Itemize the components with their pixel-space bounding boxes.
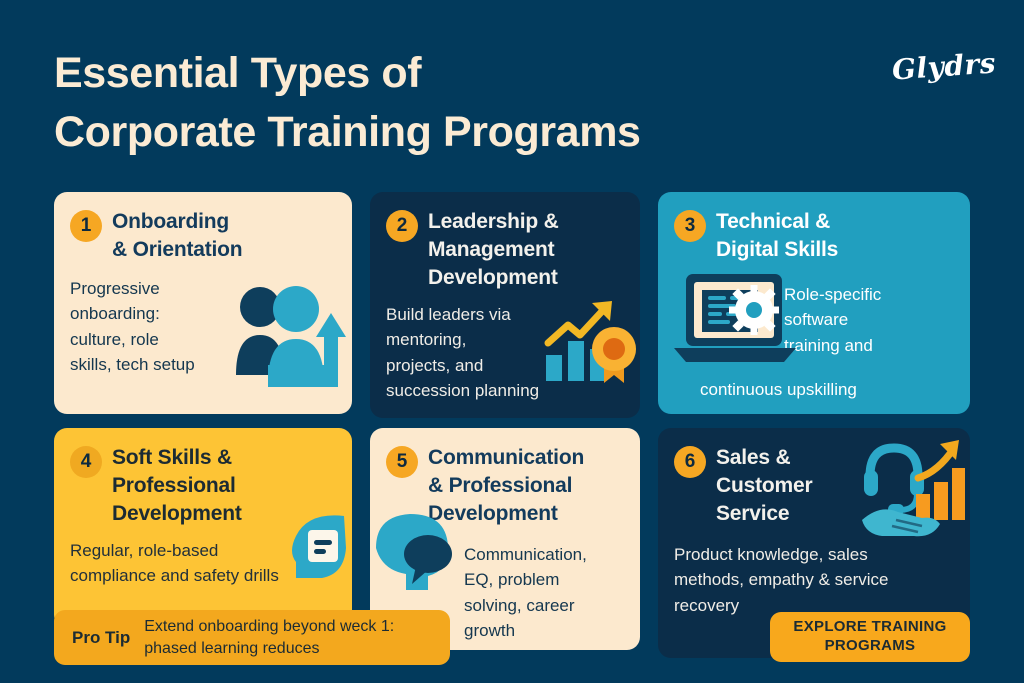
card-number-badge: 1	[70, 210, 102, 242]
pro-tip-banner: Pro Tip Extend onboarding beyond weck 1:…	[54, 610, 450, 665]
card-content: 4 Soft Skills & Professional Development…	[54, 428, 352, 628]
card-title: Onboarding & Orientation	[112, 208, 242, 264]
card-leadership-management[interactable]: 2 Leadership & Management Development Bu…	[370, 192, 640, 418]
pro-tip-label: Pro Tip	[72, 628, 130, 648]
card-number-badge: 4	[70, 446, 102, 478]
card-description: Progressive onboarding: culture, role sk…	[70, 276, 220, 378]
card-description-overflow: continuous upskilling	[700, 380, 857, 400]
card-header: 3 Technical & Digital Skills	[674, 208, 954, 264]
card-number-badge: 3	[674, 210, 706, 242]
head-speech-bubble-icon	[372, 508, 456, 603]
headset-handshake-chart-icon	[860, 438, 966, 547]
bar-chart-growth-award-icon	[542, 299, 638, 390]
pro-tip-text: Extend onboarding beyond weck 1: phased …	[144, 616, 436, 659]
card-header: 2 Leadership & Management Development	[386, 208, 624, 292]
card-content: 2 Leadership & Management Development Bu…	[370, 192, 640, 418]
card-description: Communication, EQ, problem solving, care…	[464, 542, 629, 644]
training-types-grid: 1 Onboarding & Orientation Progressive o…	[0, 0, 1024, 683]
card-technical-digital-skills[interactable]: 3 Technical & Digital Skills Role-specif…	[658, 192, 970, 414]
card-title: Technical & Digital Skills	[716, 208, 838, 264]
card-header: 1 Onboarding & Orientation	[70, 208, 336, 264]
card-title: Leadership & Management Development	[428, 208, 559, 292]
card-number-badge: 5	[386, 446, 418, 478]
card-title: Soft Skills & Professional Development	[112, 444, 242, 528]
card-content: 3 Technical & Digital Skills Role-specif…	[658, 192, 970, 414]
head-document-icon	[282, 510, 348, 591]
card-description: Product knowledge, sales methods, empath…	[674, 542, 959, 619]
card-soft-skills-professional[interactable]: 4 Soft Skills & Professional Development…	[54, 428, 352, 628]
card-description: Role-specific software training and	[784, 282, 954, 359]
card-number-badge: 6	[674, 446, 706, 478]
card-description: Build leaders via mentoring, projects, a…	[386, 302, 561, 404]
card-onboarding-orientation[interactable]: 1 Onboarding & Orientation Progressive o…	[54, 192, 352, 414]
laptop-gear-icon	[672, 270, 798, 373]
card-number-badge: 2	[386, 210, 418, 242]
card-content: 1 Onboarding & Orientation Progressive o…	[54, 192, 352, 414]
explore-training-programs-button[interactable]: EXPLORE TRAINING PROGRAMS	[770, 612, 970, 662]
card-title: Sales & Customer Service	[716, 444, 812, 528]
two-people-growth-arrow-icon	[228, 283, 346, 396]
